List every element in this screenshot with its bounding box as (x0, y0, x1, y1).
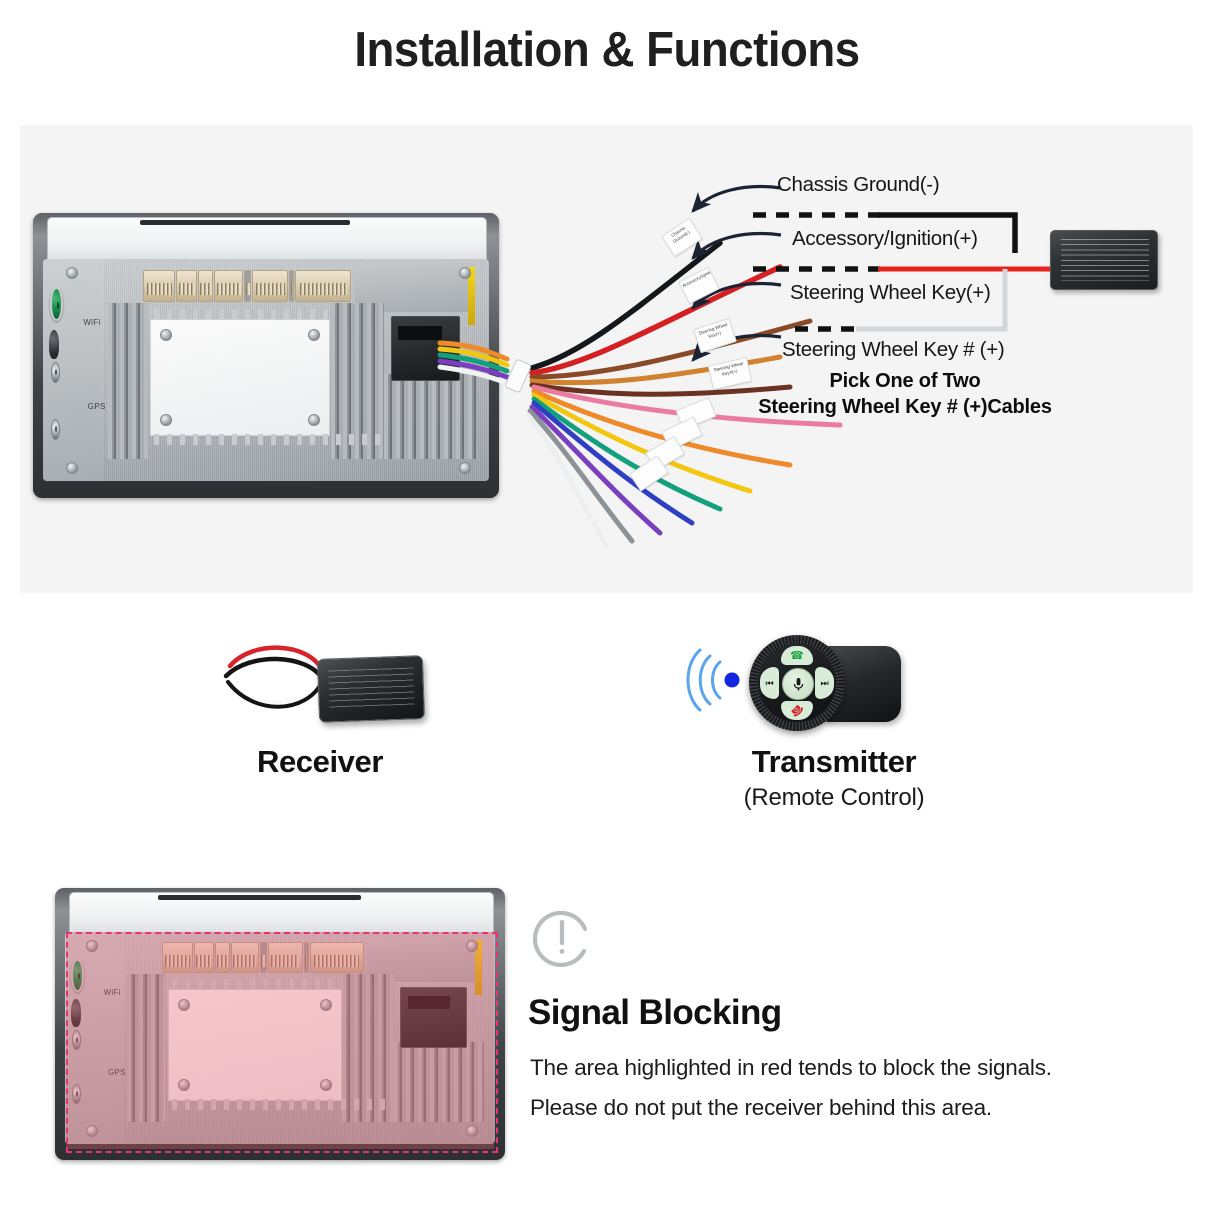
wiring-diagram-panel: WiFi GPS (20, 125, 1193, 593)
signal-blocking-heading: Signal Blocking (528, 993, 782, 1033)
next-track-icon: ⏭ (820, 678, 828, 689)
product-sublabel-remote-control: (Remote Control) (700, 784, 968, 812)
product-label-receiver: Receiver (200, 744, 440, 780)
wire-label-steering-wheel-key-hash: Steering Wheel Key # (+) (782, 338, 1004, 362)
signal-blocking-body-line1: The area highlighted in red tends to blo… (530, 1055, 1052, 1081)
voice-mic-button[interactable] (782, 668, 814, 700)
phone-hangup-icon: ☎ (788, 701, 807, 720)
transmitter-remote-control: ☎ ⏮ ⏭ ☎ (735, 632, 915, 742)
wire-harness-illustration (20, 125, 1193, 593)
remote-face: ☎ ⏮ ⏭ ☎ (758, 644, 836, 722)
product-instruction-page: Installation & Functions WiFi GPS (0, 0, 1214, 1214)
next-track-button[interactable]: ⏭ (815, 667, 834, 699)
end-call-button[interactable]: ☎ (781, 701, 813, 720)
phone-answer-icon: ☎ (790, 649, 804, 662)
wire-label-steering-wheel-key: Steering Wheel Key(+) (790, 281, 991, 305)
answer-call-button[interactable]: ☎ (781, 646, 813, 665)
signal-blocking-dashed-boundary (66, 932, 498, 1154)
head-unit-highlighted: WiFi GPS (55, 888, 505, 1160)
pick-note-line2: Steering Wheel Key # (+)Cables (758, 396, 1052, 418)
wire-label-accessory-ignition: Accessory/Ignition(+) (792, 227, 978, 251)
receiver-print-text (329, 668, 415, 711)
previous-track-icon: ⏮ (765, 678, 773, 689)
page-title: Installation & Functions (42, 22, 1171, 78)
receiver-print-text (1061, 239, 1149, 281)
pick-note-line1: Pick One of Two (829, 370, 980, 392)
product-label-transmitter: Transmitter (700, 744, 968, 780)
microphone-icon (792, 677, 805, 692)
receiver-module (1050, 230, 1158, 290)
wire-label-chassis-ground: Chassis Ground(-) (777, 173, 939, 197)
previous-track-button[interactable]: ⏮ (760, 667, 779, 699)
signal-blocking-body-line2: Please do not put the receiver behind th… (530, 1095, 992, 1121)
remote-knurled-ring: ☎ ⏮ ⏭ ☎ (749, 635, 845, 731)
exclamation-circle-icon (528, 905, 596, 973)
receiver-module-photo (317, 655, 425, 723)
